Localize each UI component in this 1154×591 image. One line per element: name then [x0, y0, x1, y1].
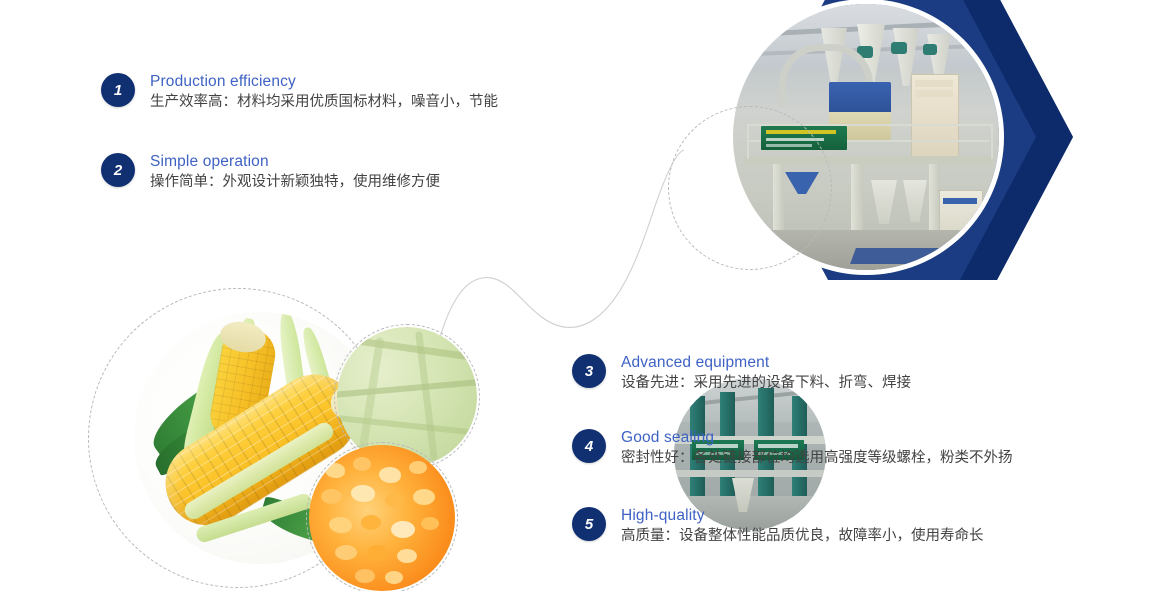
feature-item-5: 5 High-quality 高质量：设备整体性能品质优良，故障率小，使用寿命长 — [572, 506, 984, 547]
feature-badge-3: 3 — [572, 354, 606, 388]
feature-description-2: 操作简单：外观设计新颖独特，使用维修方便 — [150, 172, 440, 193]
feature-text-5: High-quality 高质量：设备整体性能品质优良，故障率小，使用寿命长 — [621, 506, 984, 547]
feature-title-2: Simple operation — [150, 152, 440, 171]
feature-item-1: 1 Production efficiency 生产效率高：材料均采用优质国标材… — [101, 72, 498, 113]
feature-text-4: Good sealing 密封性好：各处链接部位均选用高强度等级螺栓，粉类不外扬 — [621, 428, 1013, 469]
feature-description-5: 高质量：设备整体性能品质优良，故障率小，使用寿命长 — [621, 526, 984, 547]
infographic-canvas: 1 Production efficiency 生产效率高：材料均采用优质国标材… — [0, 0, 1154, 591]
feature-badge-2: 2 — [101, 153, 135, 187]
feature-title-3: Advanced equipment — [621, 353, 911, 372]
feature-badge-1: 1 — [101, 73, 135, 107]
hexagon-photo-group — [660, 0, 1154, 280]
feature-title-1: Production efficiency — [150, 72, 498, 91]
feature-description-4: 密封性好：各处链接部位均选用高强度等级螺栓，粉类不外扬 — [621, 448, 1013, 469]
feature-description-1: 生产效率高：材料均采用优质国标材料，噪音小，节能 — [150, 92, 498, 113]
feature-text-2: Simple operation 操作简单：外观设计新颖独特，使用维修方便 — [150, 152, 440, 193]
corn-photo-group — [88, 282, 508, 591]
dashed-ring-inset-factory — [668, 106, 832, 270]
feature-description-3: 设备先进：采用先进的设备下料、折弯、焊接 — [621, 373, 911, 394]
feature-title-5: High-quality — [621, 506, 984, 525]
feature-title-4: Good sealing — [621, 428, 1013, 447]
feature-text-1: Production efficiency 生产效率高：材料均采用优质国标材料，… — [150, 72, 498, 113]
feature-item-4: 4 Good sealing 密封性好：各处链接部位均选用高强度等级螺栓，粉类不… — [572, 428, 1013, 469]
corn-kernels-photo — [309, 445, 455, 591]
feature-badge-4: 4 — [572, 429, 606, 463]
feature-badge-5: 5 — [572, 507, 606, 541]
feature-item-2: 2 Simple operation 操作简单：外观设计新颖独特，使用维修方便 — [101, 152, 440, 193]
feature-item-3: 3 Advanced equipment 设备先进：采用先进的设备下料、折弯、焊… — [572, 353, 911, 394]
feature-text-3: Advanced equipment 设备先进：采用先进的设备下料、折弯、焊接 — [621, 353, 911, 394]
